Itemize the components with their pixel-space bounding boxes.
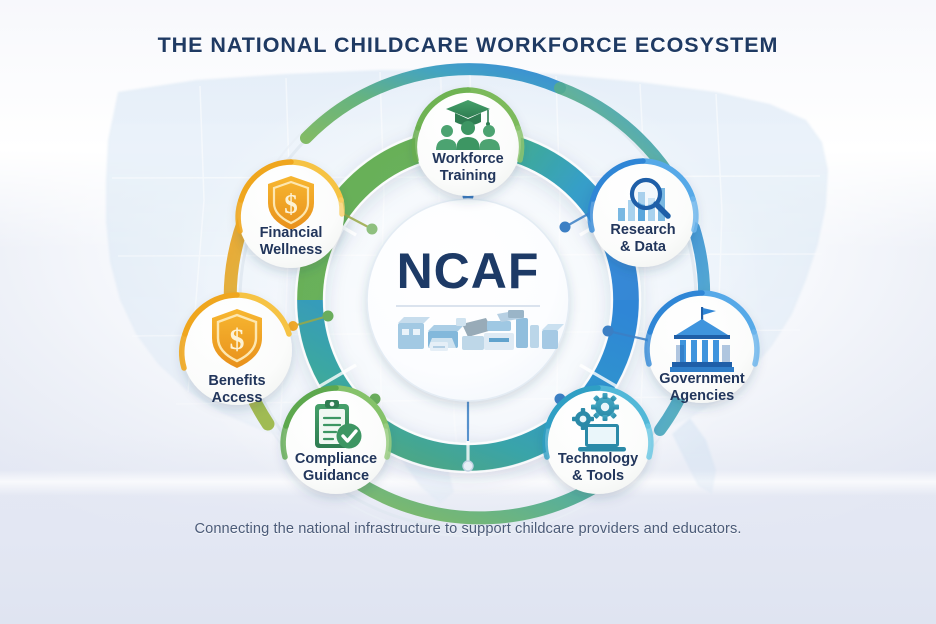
node-workforce-training[interactable]: Workforce Training <box>414 90 521 196</box>
svg-text:$: $ <box>230 323 245 356</box>
node-label-line1: Government <box>659 371 745 387</box>
footer-caption: Connecting the national infrastructure t… <box>0 521 936 537</box>
node-research-data[interactable]: Research & Data <box>590 161 696 267</box>
node-label-line2: Guidance <box>303 468 369 484</box>
node-label-line1: Financial <box>260 225 323 241</box>
node-label-line2: & Tools <box>572 468 624 484</box>
node-label-line1: Workforce <box>432 151 503 167</box>
node-label-line2: Wellness <box>260 242 323 258</box>
node-technology-tools[interactable]: Technology & Tools <box>545 388 651 494</box>
node-label-line1: Benefits <box>208 373 265 389</box>
node-label-line1: Research <box>610 222 675 238</box>
node-benefits-access[interactable]: $ Benefits Access <box>182 295 292 406</box>
node-label-line1: Technology <box>558 451 638 467</box>
node-label-line1: Compliance <box>295 451 377 467</box>
node-financial-wellness[interactable]: $ Financial Wellness <box>238 162 344 268</box>
hub-ncaf[interactable]: NCAF <box>367 199 569 401</box>
svg-text:$: $ <box>284 189 298 219</box>
node-compliance-guidance[interactable]: Compliance Guidance <box>283 388 389 494</box>
node-label-line2: Agencies <box>670 388 734 404</box>
node-label-line2: Access <box>212 390 263 406</box>
node-government-agencies[interactable]: Government Agencies <box>647 293 757 404</box>
infographic-canvas: THE NATIONAL CHILDCARE WORKFORCE ECOSYST… <box>0 0 936 624</box>
hub-acronym: NCAF <box>397 243 540 299</box>
node-label-line2: & Data <box>620 239 667 255</box>
node-label-line2: Training <box>440 168 496 184</box>
